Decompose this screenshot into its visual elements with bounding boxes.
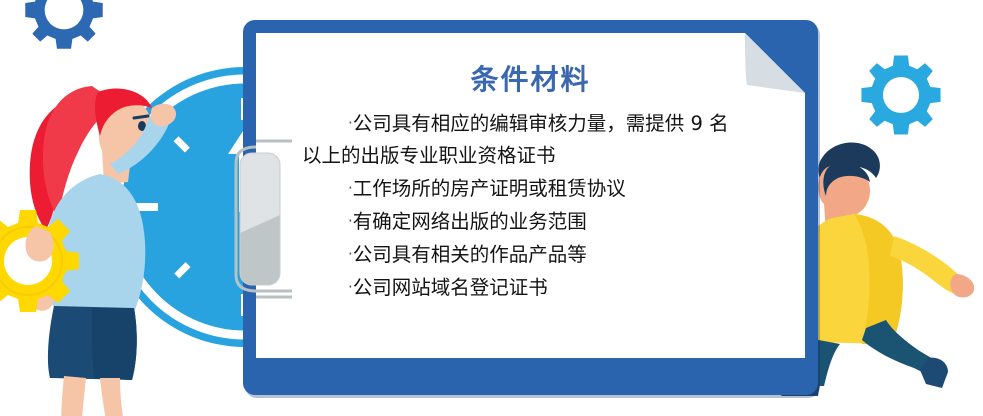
list-item: ·公司具有相关的作品产品等	[302, 238, 732, 271]
woman-character	[0, 78, 222, 416]
requirement-paragraph-text: 公司具有相应的编辑审核力量，需提供 9 名以上的出版专业职业资格证书	[302, 112, 729, 167]
requirement-bullet-list: ·工作场所的房产证明或租赁协议 ·有确定网络出版的业务范围 ·公司具有相关的作品…	[302, 172, 732, 304]
list-item: ·工作场所的房产证明或租赁协议	[302, 172, 732, 205]
document-content: 条件材料 ·公司具有相应的编辑审核力量，需提供 9 名以上的出版专业职业资格证书…	[256, 33, 805, 358]
requirement-paragraph: ·公司具有相应的编辑审核力量，需提供 9 名以上的出版专业职业资格证书	[302, 107, 732, 172]
list-item-label: 公司网站域名登记证书	[353, 276, 548, 299]
list-item: ·有确定网络出版的业务范围	[302, 205, 732, 238]
list-item-label: 公司具有相关的作品产品等	[353, 243, 587, 266]
list-item-label: 有确定网络出版的业务范围	[353, 210, 587, 233]
gear-top-right-icon	[858, 52, 944, 138]
gear-top-left-icon	[20, 0, 108, 54]
list-item: ·公司网站域名登记证书	[302, 271, 732, 304]
page-title: 条件材料	[256, 58, 805, 98]
list-item-label: 工作场所的房产证明或租赁协议	[353, 177, 626, 200]
materials-list: ·公司具有相应的编辑审核力量，需提供 9 名以上的出版专业职业资格证书 ·工作场…	[302, 107, 732, 304]
illustration-canvas: 条件材料 ·公司具有相应的编辑审核力量，需提供 9 名以上的出版专业职业资格证书…	[0, 0, 983, 416]
